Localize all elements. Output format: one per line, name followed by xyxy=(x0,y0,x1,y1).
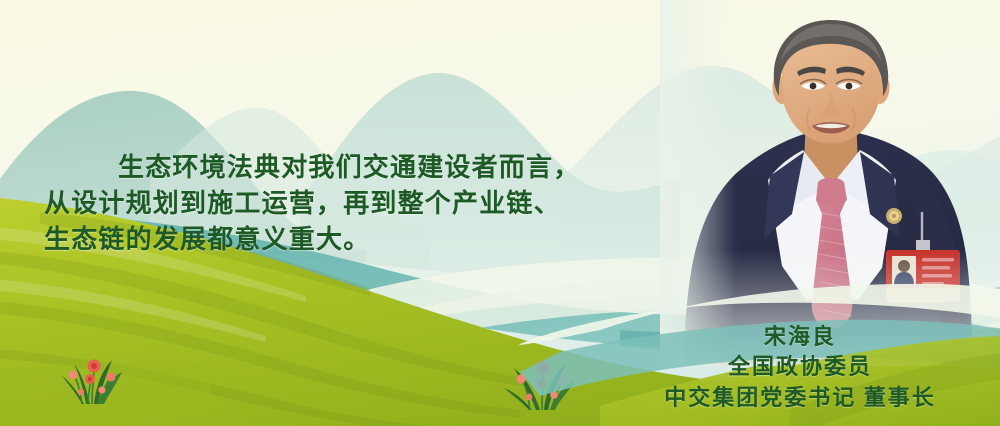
portrait-photo xyxy=(660,0,1000,366)
speaker-name: 宋海良 xyxy=(600,322,1000,352)
ecology-quote-banner: 生态环境法典对我们交通建设者而言， 从设计规划到施工运营，再到整个产业链、 生态… xyxy=(0,0,1000,426)
quote-text-block: 生态环境法典对我们交通建设者而言， 从设计规划到施工运营，再到整个产业链、 生态… xyxy=(44,150,664,258)
speaker-role: 全国政协委员 xyxy=(600,352,1000,382)
quote-line-1: 生态环境法典对我们交通建设者而言， xyxy=(44,150,664,186)
speaker-position: 中交集团党委书记 董事长 xyxy=(600,382,1000,414)
quote-line-3: 生态链的发展都意义重大。 xyxy=(44,222,664,258)
portrait-fade-left xyxy=(660,0,1000,366)
speaker-portrait xyxy=(660,0,1000,366)
quote-line-2: 从设计规划到施工运营，再到整个产业链、 xyxy=(44,186,664,222)
speaker-name-block: 宋海良 全国政协委员 中交集团党委书记 董事长 xyxy=(600,322,1000,414)
